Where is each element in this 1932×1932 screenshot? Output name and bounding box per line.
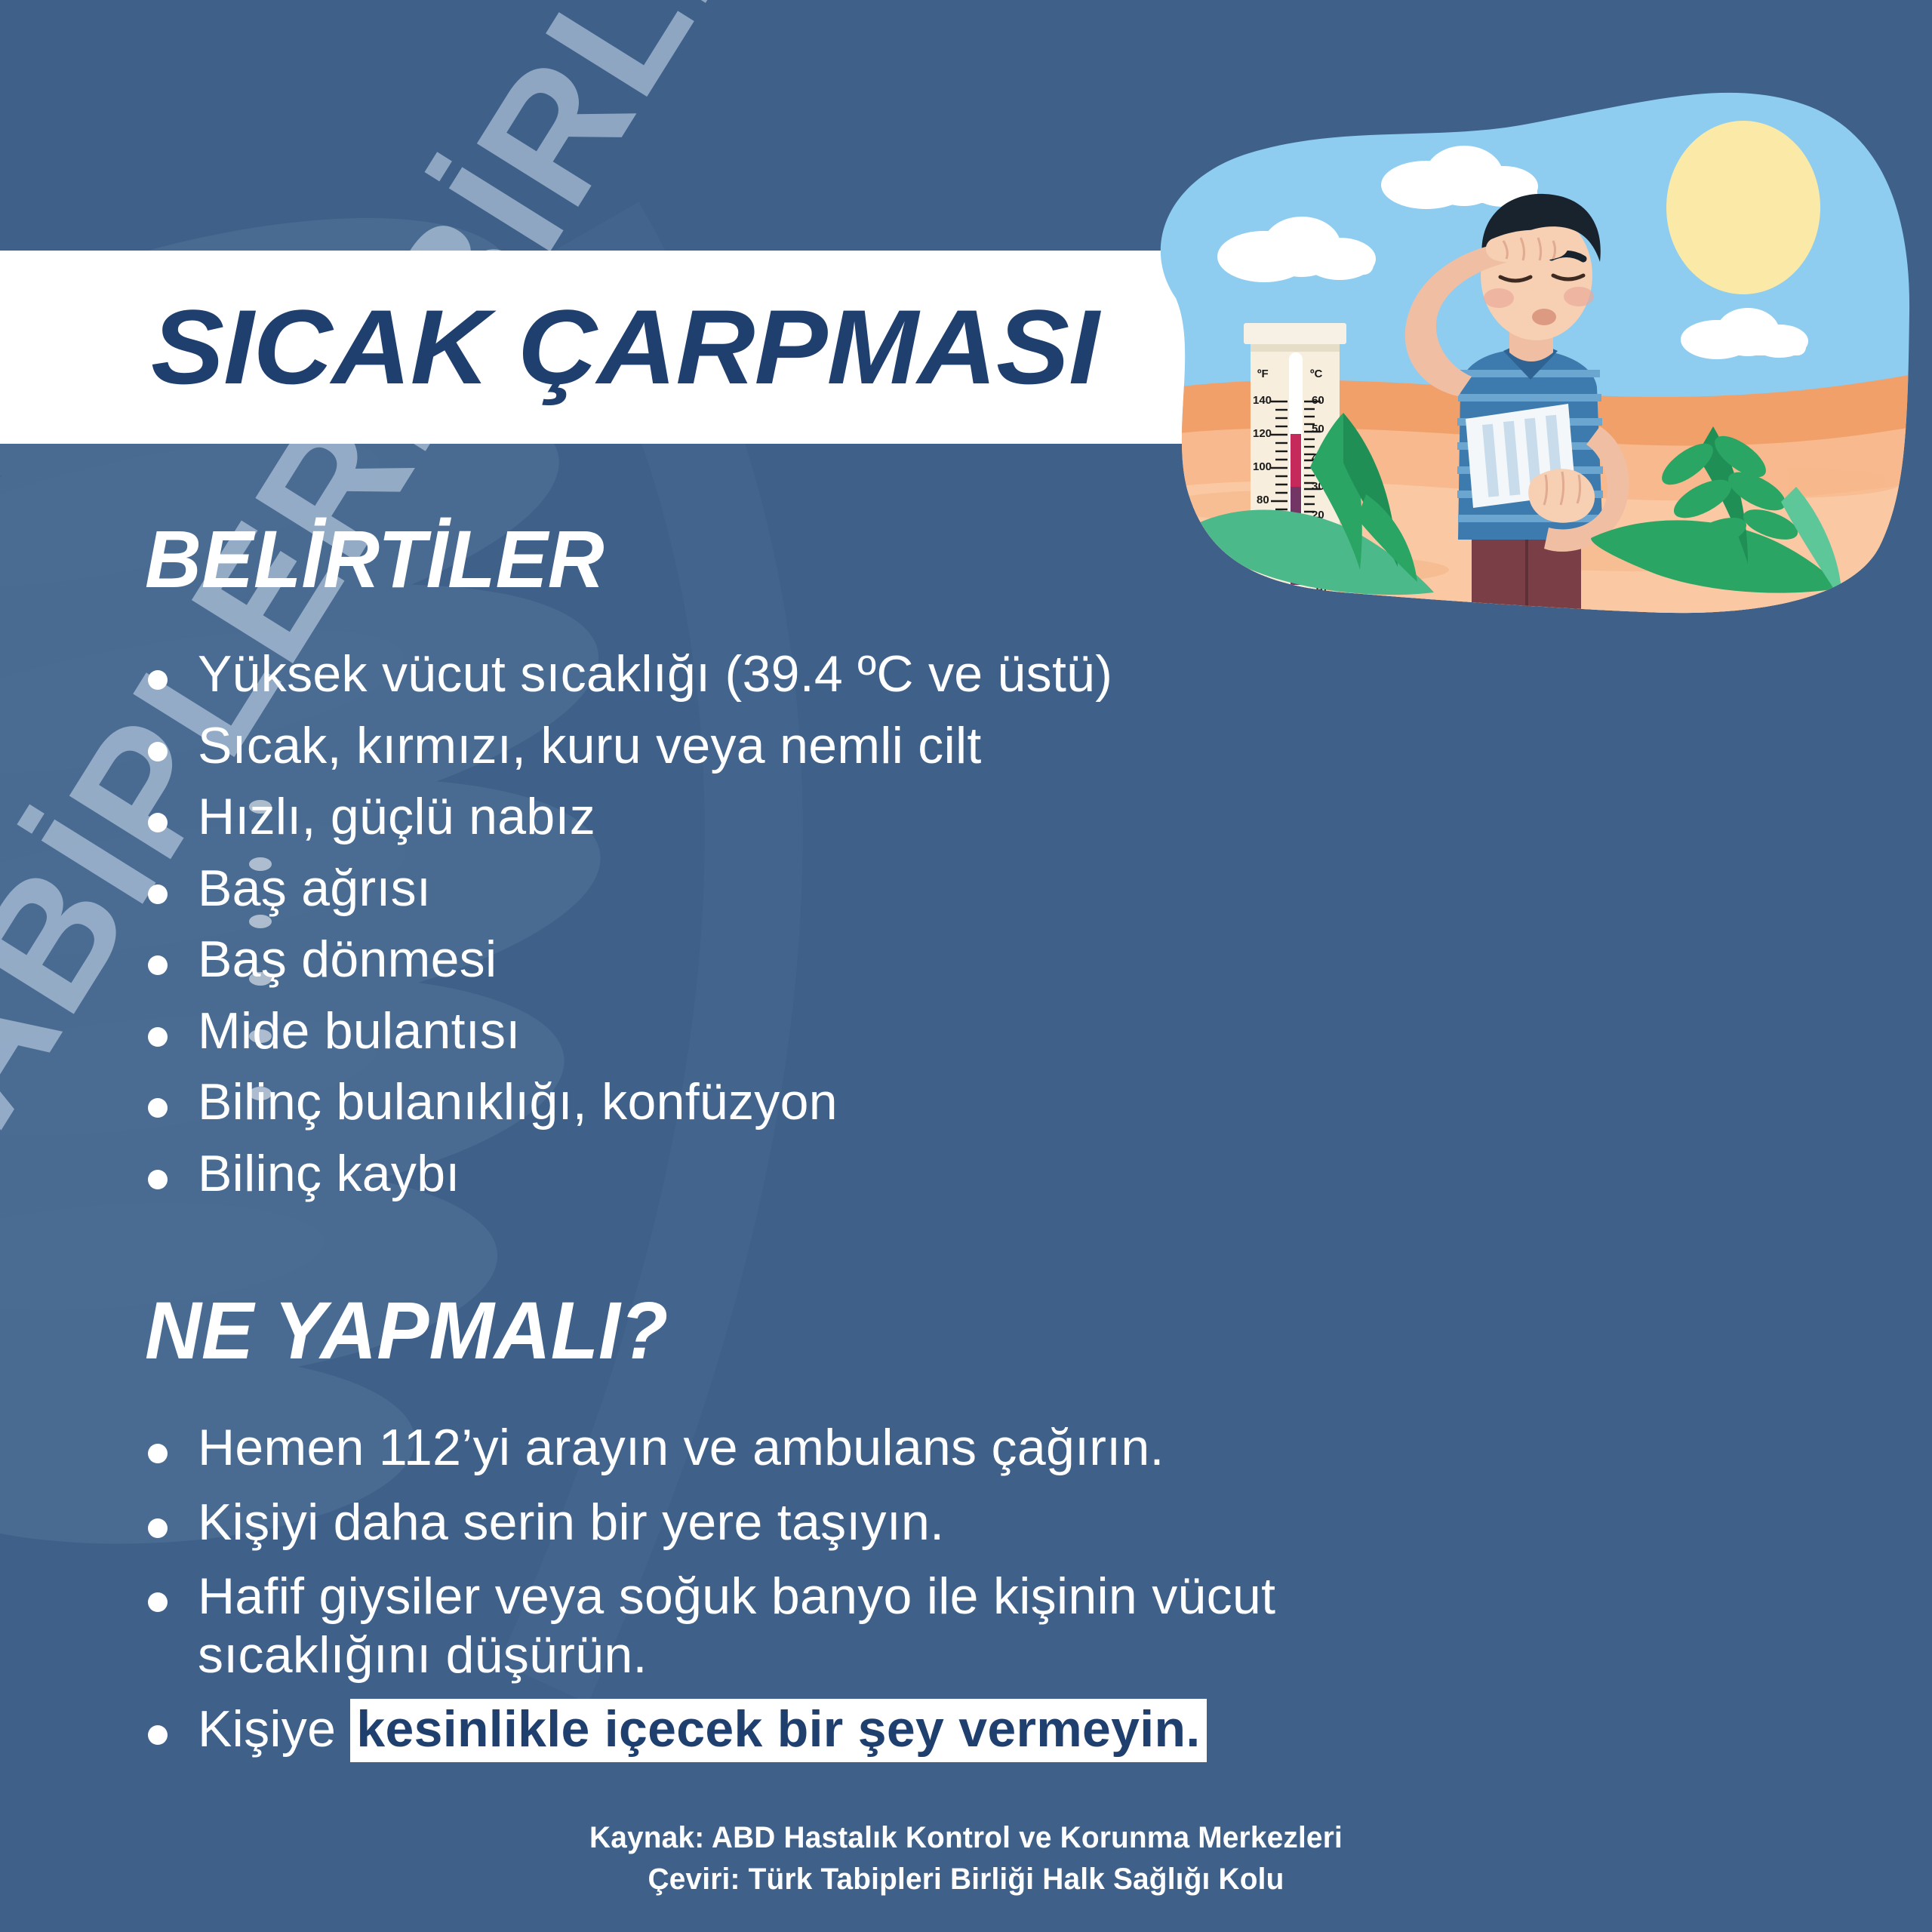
- list-item: Baş ağrısı: [148, 860, 1582, 918]
- footer: Kaynak: ABD Hastalık Kontrol ve Korunma …: [0, 1817, 1932, 1900]
- svg-text:60: 60: [1312, 394, 1324, 407]
- list-item: Kişiye kesinlikle içecek bir şey vermeyi…: [148, 1700, 1582, 1759]
- list-item-label: Baş ağrısı: [198, 860, 431, 918]
- list-item-label: Hızlı, güçlü nabız: [198, 788, 595, 847]
- list-item-label: Kişiyi daha serin bir yere taşıyın.: [198, 1494, 944, 1552]
- warning-highlight: kesinlikle içecek bir şey vermeyin.: [350, 1699, 1206, 1762]
- bullet-icon: [148, 1444, 168, 1463]
- bullet-icon: [148, 1098, 168, 1118]
- bullet-icon: [148, 742, 168, 761]
- svg-text:120: 120: [1253, 427, 1272, 440]
- list-item-label: Yüksek vücut sıcaklığı (39.4 ºC ve üstü): [198, 645, 1112, 704]
- section-heading-symptoms: BELİRTİLER: [145, 512, 605, 606]
- svg-text:ºF: ºF: [1257, 368, 1269, 380]
- list-item-label: Hafif giysiler veya soğuk banyo ile kişi…: [198, 1567, 1451, 1684]
- svg-text:100: 100: [1253, 460, 1272, 473]
- list-item-label: Baş dönmesi: [198, 931, 497, 989]
- svg-text:ºC: ºC: [1310, 368, 1322, 380]
- footer-source: Kaynak: ABD Hastalık Kontrol ve Korunma …: [29, 1817, 1903, 1859]
- list-item-label: Bilinç bulanıklığı, konfüzyon: [198, 1073, 838, 1132]
- bullet-icon: [148, 884, 168, 904]
- bullet-icon: [148, 1027, 168, 1047]
- bullet-icon: [148, 955, 168, 975]
- warning-prefix: Kişiye: [198, 1700, 350, 1758]
- bullet-icon: [148, 670, 168, 690]
- bullet-icon: [148, 813, 168, 832]
- list-item: Bilinç kaybı: [148, 1145, 1582, 1204]
- actions-list: Hemen 112’yi arayın ve ambulans çağırın.…: [148, 1419, 1582, 1775]
- list-item: Hafif giysiler veya soğuk banyo ile kişi…: [148, 1567, 1582, 1684]
- list-item-label: Bilinç kaybı: [198, 1145, 460, 1204]
- poster-root: TABİPLERİ BİRLİĞİ: [0, 0, 1932, 1932]
- page-title: SICAK ÇARPMASI: [151, 257, 1203, 438]
- bullet-icon: [148, 1592, 168, 1612]
- list-item: Bilinç bulanıklığı, konfüzyon: [148, 1073, 1582, 1132]
- bullet-icon: [148, 1725, 168, 1745]
- svg-text:140: 140: [1253, 394, 1272, 407]
- svg-text:80: 80: [1257, 494, 1269, 506]
- list-item-label: Hemen 112’yi arayın ve ambulans çağırın.: [198, 1419, 1164, 1478]
- sun-icon: [1666, 121, 1820, 294]
- bullet-icon: [148, 1518, 168, 1538]
- list-item: Mide bulantısı: [148, 1002, 1582, 1061]
- heat-illustration: ºF 140 120 100 80 60 40 ºC 60 50 40: [1117, 72, 1917, 668]
- list-item: Hızlı, güçlü nabız: [148, 788, 1582, 847]
- list-item-label-warning: Kişiye kesinlikle içecek bir şey vermeyi…: [198, 1700, 1207, 1759]
- list-item-label: Mide bulantısı: [198, 1002, 521, 1061]
- list-item: Kişiyi daha serin bir yere taşıyın.: [148, 1494, 1582, 1552]
- section-heading-actions: NE YAPMALI?: [145, 1283, 668, 1377]
- footer-translation: Çeviri: Türk Tabipleri Birliği Halk Sağl…: [29, 1859, 1903, 1900]
- list-item: Sıcak, kırmızı, kuru veya nemli cilt: [148, 717, 1582, 776]
- list-item-label: Sıcak, kırmızı, kuru veya nemli cilt: [198, 717, 982, 776]
- list-item: Hemen 112’yi arayın ve ambulans çağırın.: [148, 1419, 1582, 1478]
- list-item: Baş dönmesi: [148, 931, 1582, 989]
- symptoms-list: Yüksek vücut sıcaklığı (39.4 ºC ve üstü)…: [148, 645, 1582, 1216]
- bullet-icon: [148, 1170, 168, 1189]
